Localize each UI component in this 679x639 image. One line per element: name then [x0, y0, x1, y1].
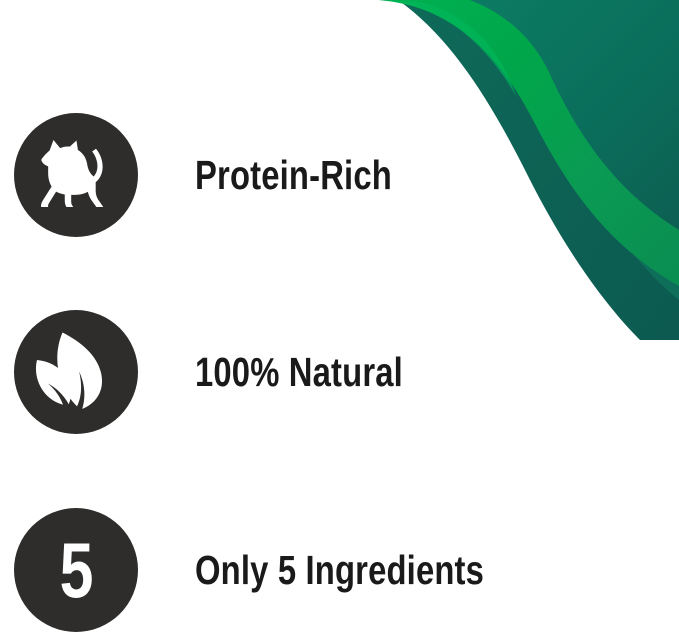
feature-label-protein-rich: Protein-Rich — [195, 155, 392, 196]
cat-silhouette-svg — [28, 127, 124, 223]
badge-number-value: 5 — [59, 531, 92, 609]
feature-item-natural: 100% Natural — [0, 310, 679, 434]
feature-item-protein-rich: Protein-Rich — [0, 113, 679, 237]
number-five-icon: 5 — [14, 508, 138, 632]
feature-highlights-panel: Protein-Rich 100% Natural 5 Only 5 Ingre… — [0, 0, 679, 639]
feature-item-ingredients: 5 Only 5 Ingredients — [0, 508, 679, 632]
feature-list: Protein-Rich 100% Natural 5 Only 5 Ingre… — [0, 0, 679, 639]
feature-label-ingredients: Only 5 Ingredients — [195, 550, 484, 591]
leaf-silhouette-svg — [24, 320, 128, 424]
feature-label-natural: 100% Natural — [195, 352, 403, 393]
cat-icon — [14, 113, 138, 237]
leaf-icon — [14, 310, 138, 434]
